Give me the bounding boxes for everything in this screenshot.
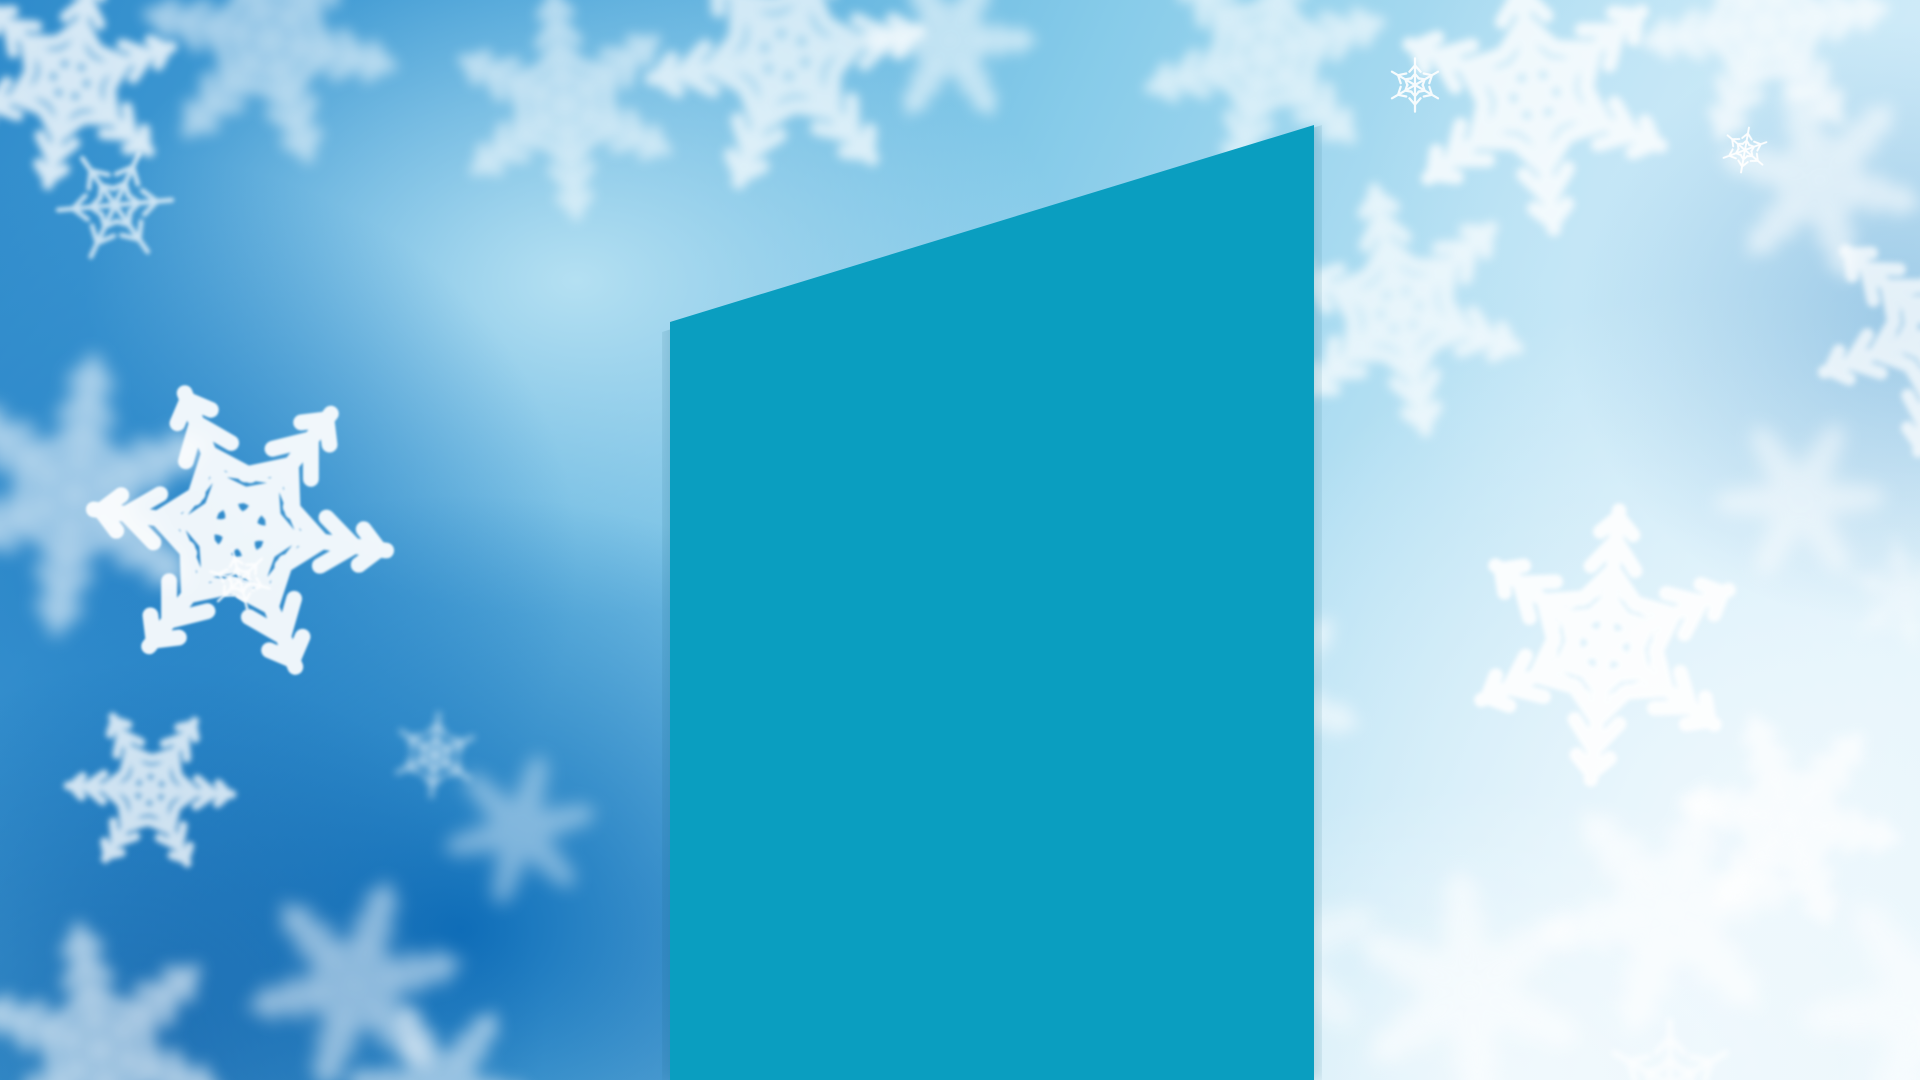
- snowflake-22-icon: [1665, 365, 1920, 635]
- snowflake-12-icon: [574, 0, 997, 266]
- snowflake-35-icon: [1858, 958, 1920, 1080]
- snowflake-13-icon: [813, 0, 1086, 177]
- snowflake-19-icon: [1672, 32, 1920, 329]
- snowflake-28-icon: [1318, 838, 1621, 1080]
- snowflake-2-icon: [81, 0, 459, 229]
- snowflake-7-icon: [0, 876, 274, 1080]
- snowflake-23-icon: [1380, 50, 1450, 120]
- snowflake-32-icon: [1585, 1000, 1755, 1080]
- snowflake-8-icon: [197, 827, 512, 1080]
- snowflake-25-icon: [1424, 464, 1787, 827]
- snowflake-27-icon: [1481, 721, 1859, 1080]
- snowflake-14-icon: [409, 719, 632, 942]
- snowflake-1-icon: [0, 0, 224, 234]
- snowflake-6-icon: [12, 652, 289, 929]
- snowflake-24-icon: [1710, 115, 1780, 185]
- snowflake-15-icon: [295, 945, 585, 1080]
- snowflake-17-icon: [1349, 0, 1722, 281]
- snowflake-20-icon: [1766, 156, 1920, 504]
- promo-graphic-canvas: Parents’ Night Out Camp Friday, December…: [0, 0, 1920, 1080]
- snowflake-26-icon: [1623, 653, 1920, 986]
- snowflake-9-icon: [375, 695, 494, 814]
- snowflake-4-icon: [0, 309, 261, 682]
- snowflake-11-icon: [417, 0, 714, 253]
- snowflake-10-icon: [192, 532, 289, 629]
- snowflake-3-icon: [15, 105, 214, 304]
- snowflake-18-icon: [1576, 0, 1920, 214]
- snowflake-34-icon: [1818, 508, 1920, 682]
- snowflake-29-icon: [1729, 809, 1920, 1080]
- snowflake-5-icon: [6, 296, 475, 765]
